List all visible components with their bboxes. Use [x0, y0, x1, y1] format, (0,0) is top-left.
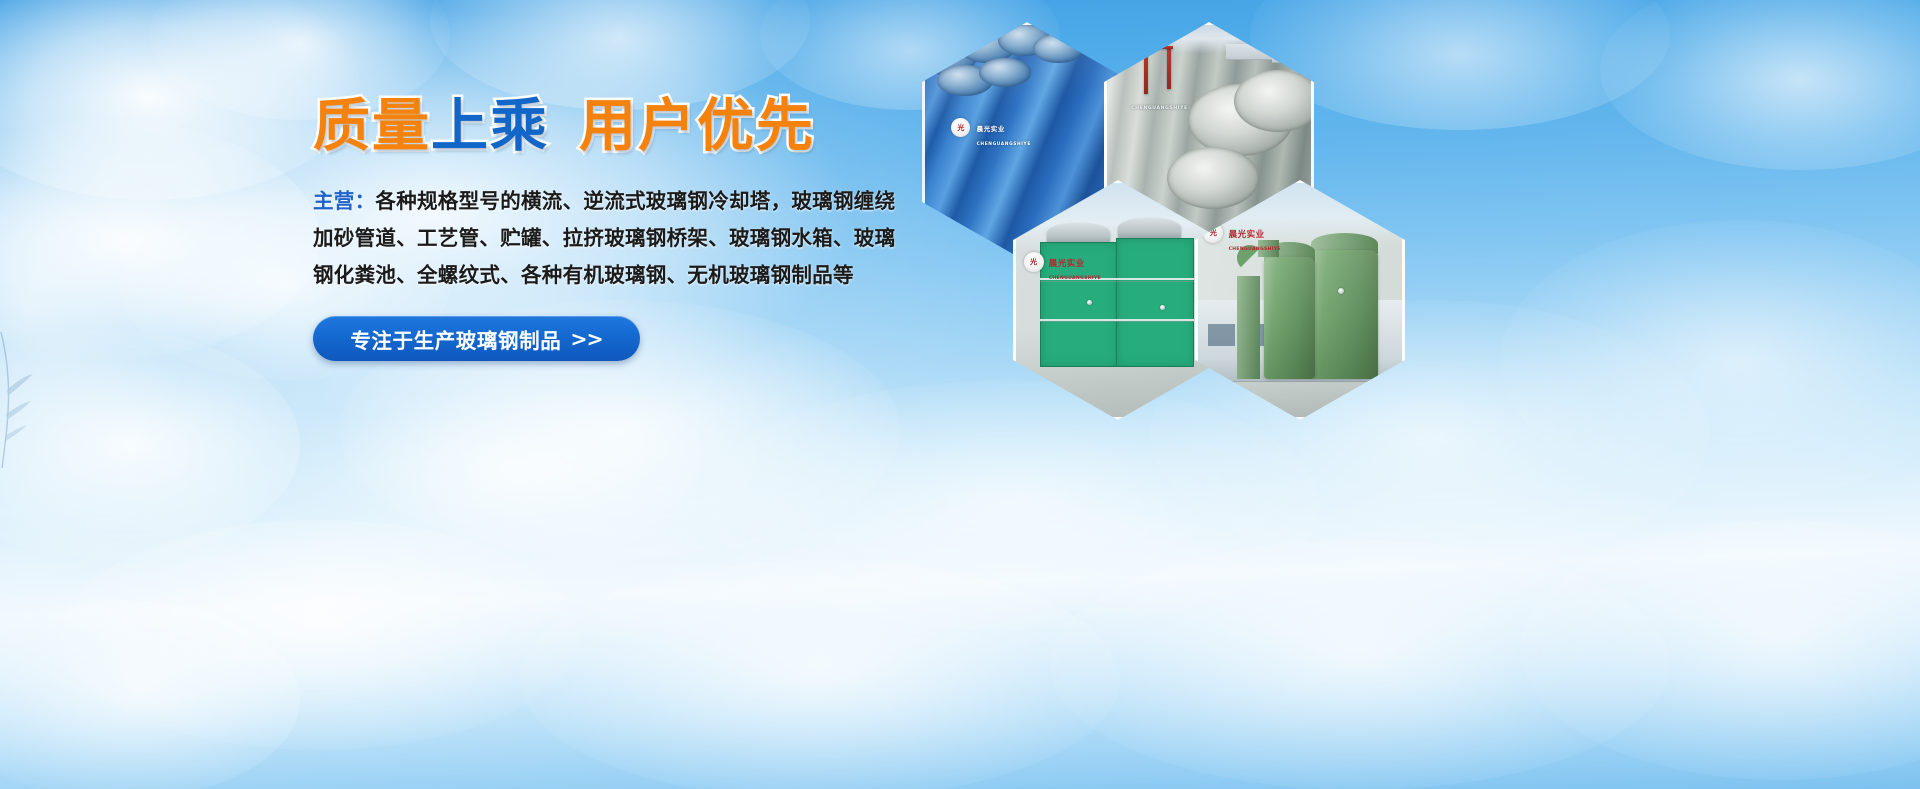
cooling-tower-body [1116, 238, 1194, 368]
cloud-decoration [1600, 0, 1920, 170]
scrubber-tank-body [1311, 250, 1378, 380]
exhaust-duct [1237, 276, 1260, 379]
scrubber-tank-body [1264, 257, 1314, 379]
hero-banner: 质量上乘用户优先 主营：各种规格型号的横流、逆流式玻璃钢冷却塔，玻璃钢缠绕加砂管… [0, 0, 1920, 789]
double-chevron-right-icon: >> [570, 327, 602, 351]
brand-name-pinyin: CHENGUANGSHIYE [1131, 106, 1187, 111]
banner-description: 主营：各种规格型号的横流、逆流式玻璃钢冷却塔，玻璃钢缠绕加砂管道、工艺管、贮罐、… [313, 183, 913, 294]
building-window [1208, 324, 1235, 346]
pipe-opening [1167, 147, 1259, 209]
nozzle-fitting [1087, 300, 1092, 305]
background-building [1226, 44, 1281, 61]
brand-name-cn: 晨光实业 [977, 123, 1005, 133]
description-line-3: 粪池、全螺纹式、各种有机玻璃钢、无机玻璃钢制品等 [355, 263, 854, 287]
cta-button-label: 专注于生产玻璃钢制品 [350, 324, 561, 354]
cloud-decoration [1500, 220, 1920, 500]
brand-logo-badge: 光 [1024, 252, 1044, 272]
headline-part-2: 上乘 [431, 98, 549, 155]
product-image-gallery: 光 晨光实业 CHENGUANGSHIYE CHENGUANG [920, 8, 1420, 398]
page-title: 质量上乘用户优先 [313, 98, 815, 155]
nozzle-fitting [1160, 305, 1165, 310]
pipe-opening [1234, 70, 1314, 132]
cta-button[interactable]: 专注于生产玻璃钢制品>> [313, 316, 640, 361]
brand-logo-badge: 光 [951, 118, 970, 137]
nozzle-fitting [1338, 288, 1344, 294]
brand-name-pinyin: CHENGUANGSHIYE [1229, 247, 1281, 252]
red-support-beam [1148, 46, 1173, 49]
brand-name-pinyin: CHENGUANGSHIYE [1049, 276, 1101, 281]
description-label: 主营： [313, 189, 375, 213]
red-support-post [1144, 41, 1148, 94]
pipe-opening [1033, 34, 1083, 63]
headline-part-1: 质量 [313, 98, 431, 155]
brand-name-cn: 晨光实业 [1229, 228, 1265, 240]
cooling-tower-railing [1040, 319, 1193, 322]
banner-text-block: 质量上乘用户优先 主营：各种规格型号的横流、逆流式玻璃钢冷却塔，玻璃钢缠绕加砂管… [0, 0, 960, 789]
brand-name-pinyin: CHENGUANGSHIYE [977, 142, 1031, 147]
cloud-decoration [1050, 540, 1670, 789]
brand-name-cn: 晨光实业 [1049, 257, 1085, 269]
pipe-opening [979, 58, 1032, 87]
background-building [1272, 48, 1314, 62]
headline-part-3: 用户优先 [579, 98, 815, 155]
red-support-post [1167, 46, 1171, 89]
cloud-decoration [1520, 520, 1920, 780]
